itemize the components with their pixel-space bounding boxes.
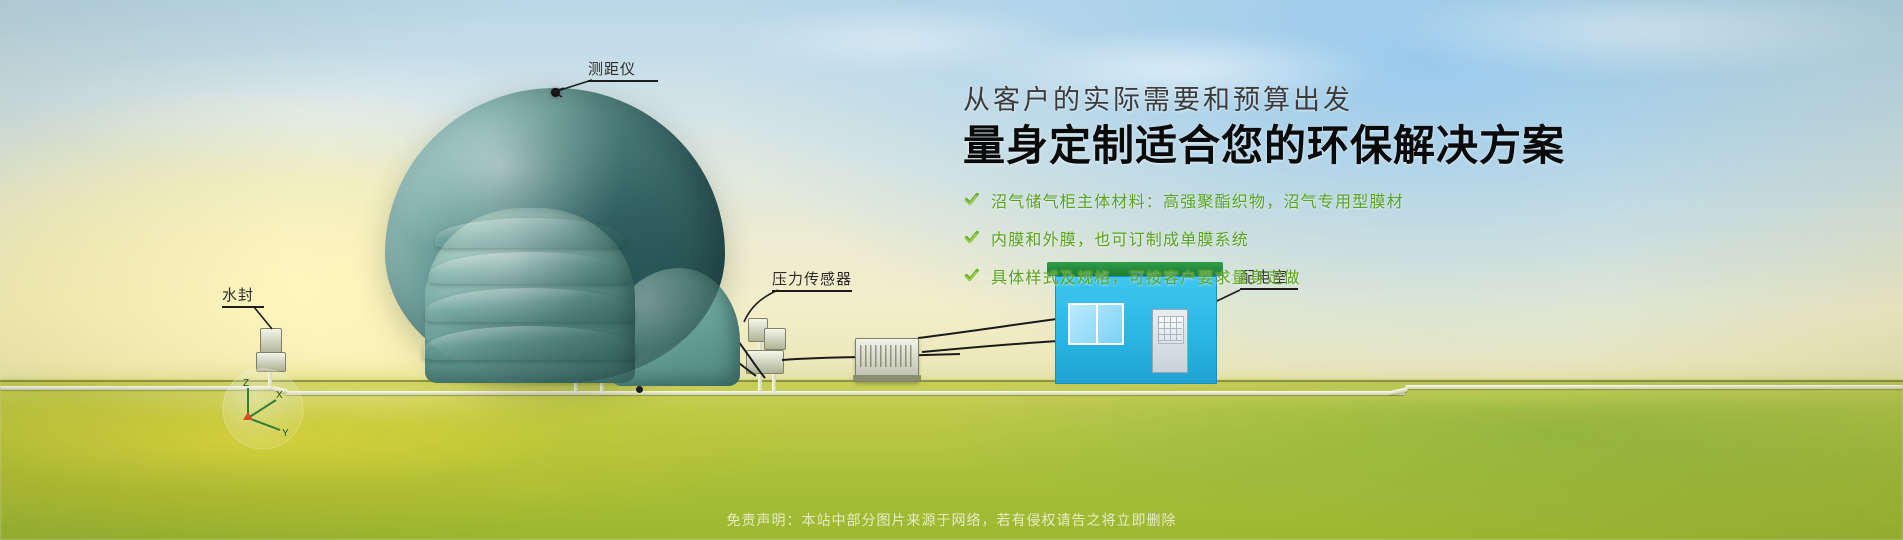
feature-bullet-item: 内膜和外膜，也可订制成单膜系统: [963, 226, 1723, 250]
feature-bullet-label: 内膜和外膜，也可订制成单膜系统: [991, 226, 1249, 250]
headline-main: 量身定制适合您的环保解决方案: [963, 120, 1723, 171]
callout-water-seal-leader: [252, 305, 286, 335]
callout-pressure-sensor-label: 压力传感器: [772, 271, 852, 288]
headline-subtitle: 从客户的实际需要和预算出发: [963, 84, 1723, 118]
callout-pressure-sensor-underline: [772, 290, 852, 292]
power-room-window: [1068, 303, 1124, 345]
power-room-panel: [1152, 309, 1188, 373]
dome-shading-overlay: [385, 88, 725, 383]
equipment-base: [853, 375, 921, 381]
axis-label-z: Z: [243, 378, 249, 389]
axis-label-y: Y: [282, 428, 289, 439]
callout-rangefinder-label: 测距仪: [588, 61, 636, 78]
callout-water-seal-label: 水封: [222, 287, 254, 304]
callout-rangefinder-leader: [552, 78, 596, 104]
feature-bullet-list: 沼气储气柜主体材料：高强聚酯织物，沼气专用型膜材 内膜和外膜，也可订制成单膜系统: [963, 188, 1723, 288]
callout-pressure-sensor-leader: [730, 288, 782, 332]
check-icon: [963, 191, 980, 208]
marketing-text-block: 从客户的实际需要和预算出发 量身定制适合您的环保解决方案 沼气储气柜主体材料：高…: [963, 84, 1723, 302]
check-icon: [963, 229, 980, 246]
callout-water-seal: 水封: [222, 284, 254, 305]
power-room-panel-grid: [1158, 317, 1182, 341]
check-icon: [963, 267, 980, 284]
feature-bullet-item: 沼气储气柜主体材料：高强聚酯织物，沼气专用型膜材: [963, 188, 1723, 212]
callout-pressure-sensor: 压力传感器: [772, 268, 852, 289]
feature-bullet-label: 具体样式及规格，可按客户要求量身定做: [991, 264, 1301, 288]
axis-label-x: X: [276, 390, 283, 401]
axis-gizmo: Z X Y: [222, 368, 304, 450]
feature-bullet-label: 沼气储气柜主体材料：高强聚酯织物，沼气专用型膜材: [991, 188, 1404, 212]
equipment-unit: [855, 338, 919, 382]
callout-rangefinder-underline: [588, 80, 658, 82]
feature-bullet-item: 具体样式及规格，可按客户要求量身定做: [963, 264, 1723, 288]
disclaimer-text: 免责声明：本站中部分图片来源于网络，若有侵权请告之将立即删除: [0, 510, 1903, 530]
gas-holder-dome: [385, 88, 725, 383]
banner-stage: 测距仪 水封 压力传感器 配电室: [0, 0, 1903, 540]
equipment-vent-grid: [860, 345, 914, 367]
callout-rangefinder: 测距仪: [588, 58, 636, 79]
